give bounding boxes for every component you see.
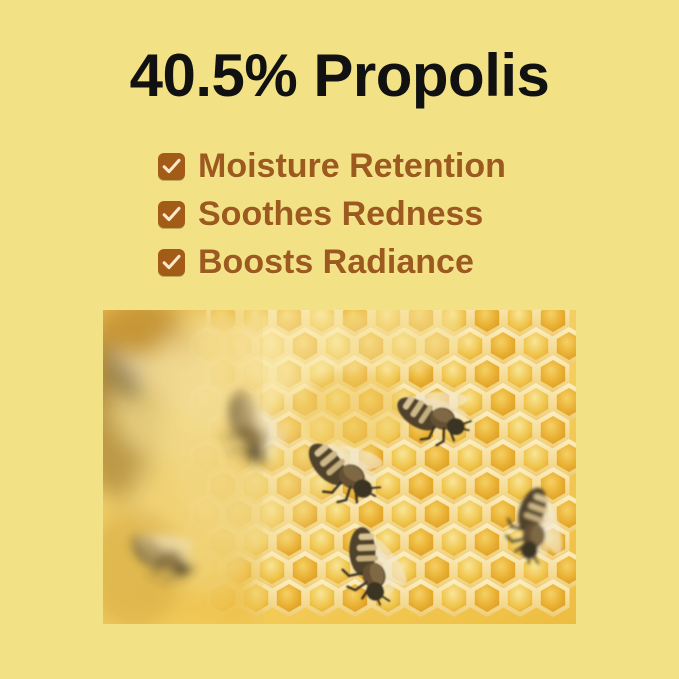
list-item-label: Moisture Retention [198,147,506,185]
list-item: Moisture Retention [158,143,578,189]
benefit-list: Moisture Retention Soothes Redness Boost… [158,143,578,287]
checkbox-checked-icon [158,249,185,276]
page-title: 40.5% Propolis [0,44,679,108]
checkbox-checked-icon [158,153,185,180]
poster-root: 40.5% Propolis Moisture Retention Soothe… [0,0,679,679]
list-item-label: Boosts Radiance [198,243,474,281]
list-item: Soothes Redness [158,191,578,237]
list-item: Boosts Radiance [158,239,578,285]
checkbox-checked-icon [158,201,185,228]
list-item-label: Soothes Redness [198,195,483,233]
honeycomb-bees-photo [103,310,576,624]
